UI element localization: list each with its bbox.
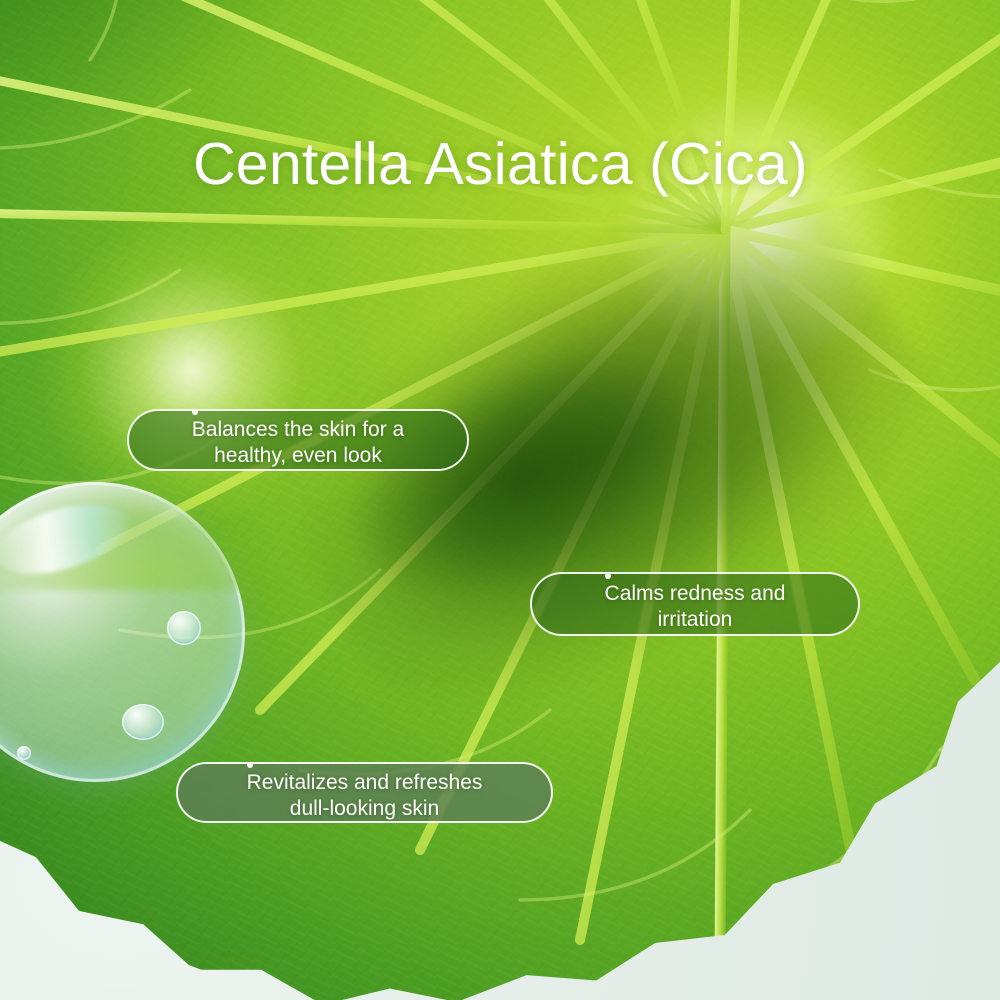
benefit-text: Balances the skin for a (192, 417, 404, 443)
droplet-inner-bubble (167, 611, 201, 645)
infographic-canvas: Centella Asiatica (Cica) Balances the sk… (0, 0, 1000, 1000)
bullet-dot-icon (605, 573, 611, 579)
benefit-line-2: dull-looking skin (247, 796, 483, 822)
benefit-line-1: Balances the skin for a (192, 411, 404, 443)
benefit-text: Calms redness and (605, 581, 786, 607)
benefit-line-2: irritation (605, 607, 786, 633)
benefit-pill-calms: Calms redness and irritation (530, 572, 860, 636)
page-title: Centella Asiatica (Cica) (193, 134, 808, 196)
bullet-dot-icon (247, 762, 253, 768)
benefit-text: Revitalizes and refreshes (247, 770, 483, 796)
benefit-line-1: Revitalizes and refreshes (247, 764, 483, 796)
bullet-dot-icon (192, 409, 198, 415)
benefit-pill-revitalizes: Revitalizes and refreshes dull-looking s… (176, 762, 553, 823)
benefit-pill-balances: Balances the skin for a healthy, even lo… (127, 409, 469, 471)
droplet-inner-bubble (17, 746, 31, 760)
benefit-line-2: healthy, even look (192, 443, 404, 469)
benefit-line-1: Calms redness and (605, 575, 786, 607)
droplet-inner-bubble (122, 704, 164, 740)
